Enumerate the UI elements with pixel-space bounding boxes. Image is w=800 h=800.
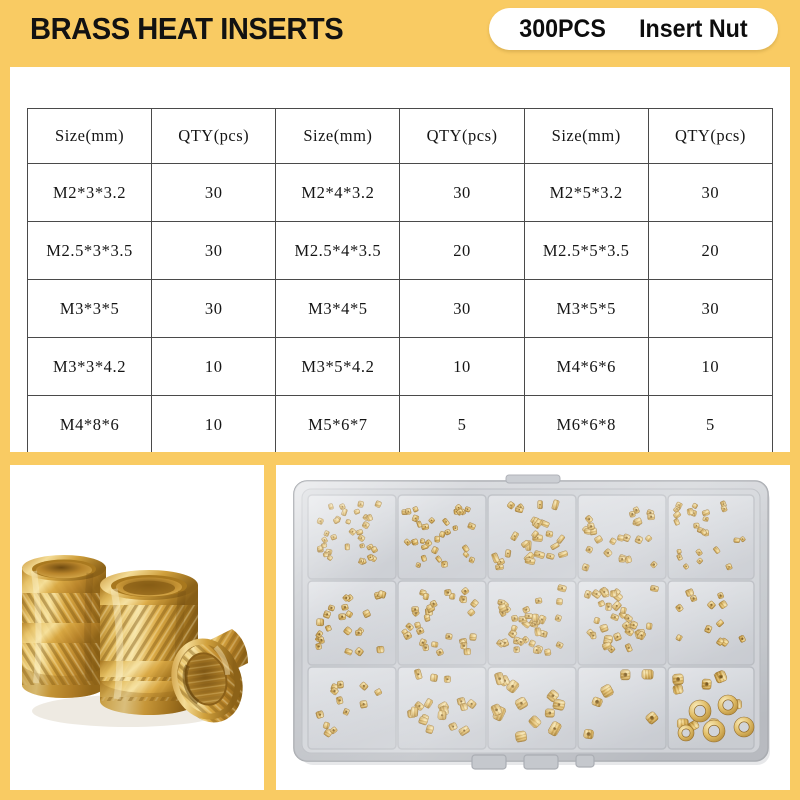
product-closeup-photo — [10, 465, 264, 790]
brass-insert-part — [734, 538, 740, 543]
brass-insert-part — [703, 517, 709, 522]
brass-insert-part — [617, 535, 624, 542]
brass-insert-part — [430, 674, 438, 682]
brass-insert-part — [678, 725, 694, 741]
brass-insert-part — [689, 700, 711, 722]
status-badge: 300PCS Insert Nut — [489, 8, 778, 50]
brass-insert-part — [647, 514, 654, 520]
table-cell: M5*6*7 — [276, 396, 400, 454]
table-cell: 5 — [400, 396, 524, 454]
column-header: QTY(pcs) — [648, 109, 772, 164]
brass-insert-part — [505, 549, 511, 557]
brass-insert-part — [583, 729, 594, 739]
brass-insert-part — [703, 720, 725, 742]
table-cell: 30 — [152, 280, 276, 338]
brass-insert-part — [584, 528, 591, 535]
table-cell: 10 — [400, 338, 524, 396]
table-cell: M3*4*5 — [276, 280, 400, 338]
brass-insert-part — [469, 633, 476, 641]
table-cell: 30 — [648, 280, 772, 338]
brass-insert-part — [544, 649, 551, 656]
brass-insert-part — [464, 648, 471, 655]
table-cell: M3*5*5 — [524, 280, 648, 338]
brass-insert-part — [672, 684, 683, 695]
brass-insert-part — [345, 544, 350, 550]
brass-insert-part — [605, 603, 611, 611]
table-cell: 20 — [400, 222, 524, 280]
brass-insert-part — [535, 598, 542, 605]
table-cell: M6*6*8 — [524, 396, 648, 454]
brass-insert-part — [355, 630, 362, 636]
table-cell: 5 — [648, 396, 772, 454]
table-cell: 10 — [152, 396, 276, 454]
brass-insert-part — [360, 700, 368, 708]
brass-insert-part — [445, 633, 452, 640]
table-row: M4*8*610M5*6*75M6*6*85 — [28, 396, 773, 454]
brass-insert-part — [416, 562, 421, 567]
brass-insert-part — [619, 556, 626, 562]
brass-insert-part — [532, 614, 538, 622]
brass-insert-part — [337, 681, 344, 689]
table-cell: M3*3*5 — [28, 280, 152, 338]
brass-insert-part — [412, 606, 419, 612]
table-cell: 30 — [152, 222, 276, 280]
brass-insert-part — [556, 598, 563, 605]
brass-insert-part — [461, 642, 467, 648]
brass-insert-part — [677, 549, 682, 554]
brass-insert-part — [734, 717, 754, 737]
brass-insert-part — [444, 589, 451, 596]
brass-insert-part — [423, 593, 430, 600]
brass-insert-part — [546, 531, 553, 538]
brass-insert-part — [338, 613, 345, 620]
insert-left — [22, 555, 106, 698]
table-cell: M2*5*3.2 — [524, 164, 648, 222]
brass-insert-part — [460, 596, 466, 603]
horizontal-divider — [0, 452, 800, 465]
brass-insert-part — [610, 590, 617, 597]
table-cell: 10 — [648, 338, 772, 396]
brass-insert-part — [321, 543, 327, 548]
table-cell: M3*3*4.2 — [28, 338, 152, 396]
brass-insert-part — [545, 709, 555, 718]
brass-insert-part — [359, 543, 364, 548]
table-cell: 30 — [400, 280, 524, 338]
brass-insert-part — [515, 731, 527, 743]
brass-insert-part — [444, 676, 451, 683]
column-header: Size(mm) — [28, 109, 152, 164]
table-row: M3*3*530M3*4*530M3*5*530 — [28, 280, 773, 338]
table-row: M2*3*3.230M2*4*3.230M2*5*3.230 — [28, 164, 773, 222]
brass-inserts-illustration — [10, 465, 264, 790]
page-title: BRASS HEAT INSERTS — [30, 7, 343, 51]
brass-insert-part — [672, 674, 683, 685]
table-cell: 30 — [400, 164, 524, 222]
brass-insert-part — [316, 619, 324, 626]
table-cell: 10 — [152, 338, 276, 396]
table-header-row: Size(mm)QTY(pcs)Size(mm)QTY(pcs)Size(mm)… — [28, 109, 773, 164]
brass-insert-part — [435, 536, 440, 542]
brass-insert-part — [620, 607, 626, 614]
brass-insert-part — [323, 552, 329, 557]
storage-box-illustration — [276, 465, 790, 790]
header-band: BRASS HEAT INSERTS 300PCS Insert Nut — [0, 0, 800, 62]
vertical-divider — [264, 452, 276, 800]
brass-insert-part — [534, 628, 541, 637]
brass-insert-part — [441, 561, 448, 568]
brass-insert-part — [621, 670, 631, 680]
assortment-box-photo — [276, 465, 790, 790]
table-cell: M2*3*3.2 — [28, 164, 152, 222]
table-cell: 30 — [152, 164, 276, 222]
brass-insert-part — [590, 632, 596, 639]
brass-insert-part — [513, 646, 519, 652]
table-cell: 30 — [648, 164, 772, 222]
brass-insert-part — [431, 642, 438, 648]
brass-insert-part — [533, 646, 541, 654]
brass-insert-part — [422, 644, 429, 651]
brass-insert-part — [453, 525, 458, 530]
table-cell: M2.5*3*3.5 — [28, 222, 152, 280]
brass-insert-part — [511, 615, 518, 622]
brass-insert-part — [420, 538, 425, 543]
column-header: QTY(pcs) — [152, 109, 276, 164]
brass-insert-part — [687, 508, 694, 515]
column-header: QTY(pcs) — [400, 109, 524, 164]
brass-insert-part — [410, 707, 418, 717]
brass-insert-part — [642, 670, 654, 680]
brass-insert-part — [538, 501, 543, 509]
table-row: M2.5*3*3.530M2.5*4*3.520M2.5*5*3.520 — [28, 222, 773, 280]
spec-table-panel: Size(mm)QTY(pcs)Size(mm)QTY(pcs)Size(mm)… — [10, 67, 790, 452]
table-cell: M2*4*3.2 — [276, 164, 400, 222]
brass-insert-part — [718, 695, 738, 715]
badge-product-name: Insert Nut — [639, 15, 748, 44]
table-cell: M3*5*4.2 — [276, 338, 400, 396]
brass-insert-part — [405, 508, 411, 515]
table-cell: M2.5*5*3.5 — [524, 222, 648, 280]
table-cell: M4*8*6 — [28, 396, 152, 454]
brass-insert-part — [377, 646, 385, 653]
column-header: Size(mm) — [524, 109, 648, 164]
table-cell: M2.5*4*3.5 — [276, 222, 400, 280]
brass-insert-part — [525, 614, 533, 619]
table-cell: 20 — [648, 222, 772, 280]
brass-insert-part — [702, 679, 712, 690]
table-cell: M4*6*6 — [524, 338, 648, 396]
brass-insert-part — [438, 711, 447, 720]
product-infographic: BRASS HEAT INSERTS 300PCS Insert Nut Siz… — [0, 0, 800, 800]
badge-count: 300PCS — [519, 15, 606, 44]
brass-insert-part — [646, 623, 652, 630]
spec-table: Size(mm)QTY(pcs)Size(mm)QTY(pcs)Size(mm)… — [27, 108, 773, 454]
column-header: Size(mm) — [276, 109, 400, 164]
brass-insert-part — [357, 501, 363, 508]
table-row: M3*3*4.210M3*5*4.210M4*6*610 — [28, 338, 773, 396]
